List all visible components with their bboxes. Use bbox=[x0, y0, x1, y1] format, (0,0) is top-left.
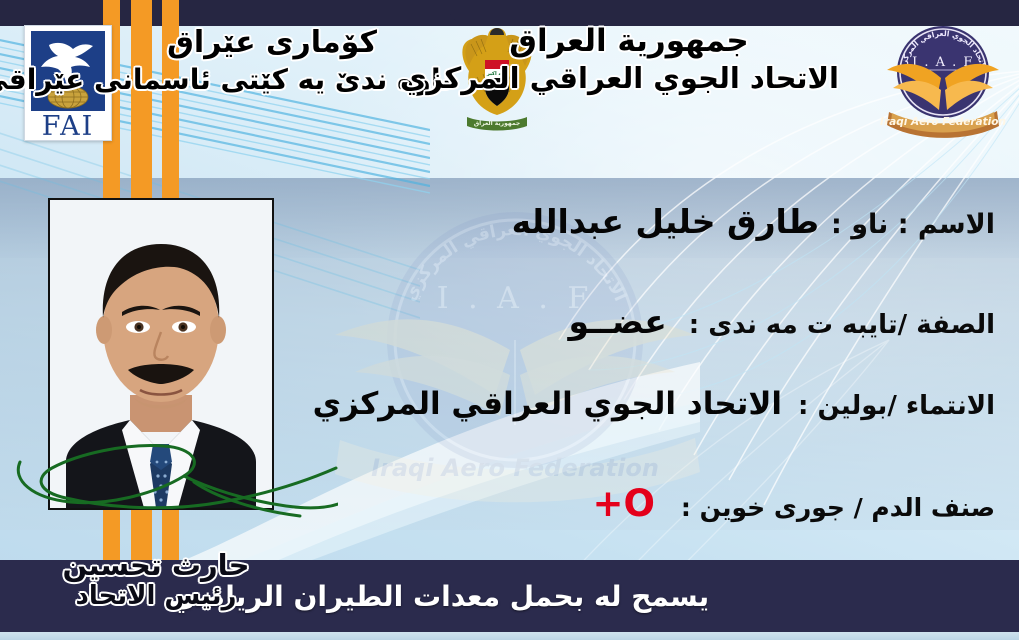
crest-ribbon-text: Iraqi Aero Federation bbox=[880, 116, 1006, 128]
field-full-name-label: الاسم : ناو : bbox=[831, 209, 995, 240]
field-rank: الصفة /تايبه ت مه ندى : عضــو bbox=[568, 302, 995, 341]
arabic-header: جمهورية العراق الاتحاد الجوي العراقي الم… bbox=[419, 24, 839, 95]
fai-logo-text: FAI bbox=[42, 113, 95, 140]
holder-photo bbox=[48, 198, 274, 510]
field-affiliation-value: الاتحاد الجوي العراقي المركزي bbox=[313, 386, 782, 422]
field-affiliation: الانتماء /بولين : الاتحاد الجوي العراقي … bbox=[313, 386, 995, 422]
id-card: الاتحاد الجوي العراقي المركزي I . A . F … bbox=[0, 0, 1019, 640]
field-blood-type-label: صنف الدم / جورى خوين : bbox=[681, 493, 995, 522]
field-blood-type: صنف الدم / جورى خوين : O+ bbox=[592, 482, 995, 525]
president-block: حارث تحسين رئيس الاتحاد bbox=[6, 549, 306, 612]
field-full-name: الاسم : ناو : طارق خليل عبدالله bbox=[512, 202, 995, 241]
field-rank-value: عضــو bbox=[568, 302, 666, 341]
iaf-crest-logo: الاتحاد الجوي العراقي المركزي I . A . F … bbox=[879, 12, 1007, 140]
field-blood-type-value: O+ bbox=[592, 482, 654, 525]
field-full-name-value: طارق خليل عبدالله bbox=[512, 202, 819, 241]
president-title: رئيس الاتحاد bbox=[6, 582, 306, 612]
kurdish-federation-line: ناوه‌ ندێ یه‌ كێتى ئاسمانى عێراقى bbox=[92, 63, 452, 97]
footer-bottom-strip bbox=[0, 632, 1019, 640]
svg-text:جمهورية العراق: جمهورية العراق bbox=[474, 120, 520, 127]
arabic-country-line: جمهورية العراق bbox=[419, 24, 839, 59]
president-name: حارث تحسين bbox=[6, 549, 306, 581]
arabic-federation-line: الاتحاد الجوي العراقي المركزي bbox=[419, 61, 839, 95]
kurdish-country-line: كۆمارى عێراق bbox=[92, 26, 452, 61]
field-rank-label: الصفة /تايبه ت مه ندى : bbox=[689, 310, 995, 340]
field-affiliation-label: الانتماء /بولين : bbox=[798, 391, 995, 421]
kurdish-header: كۆمارى عێراق ناوه‌ ندێ یه‌ كێتى ئاسمانى … bbox=[92, 26, 452, 96]
